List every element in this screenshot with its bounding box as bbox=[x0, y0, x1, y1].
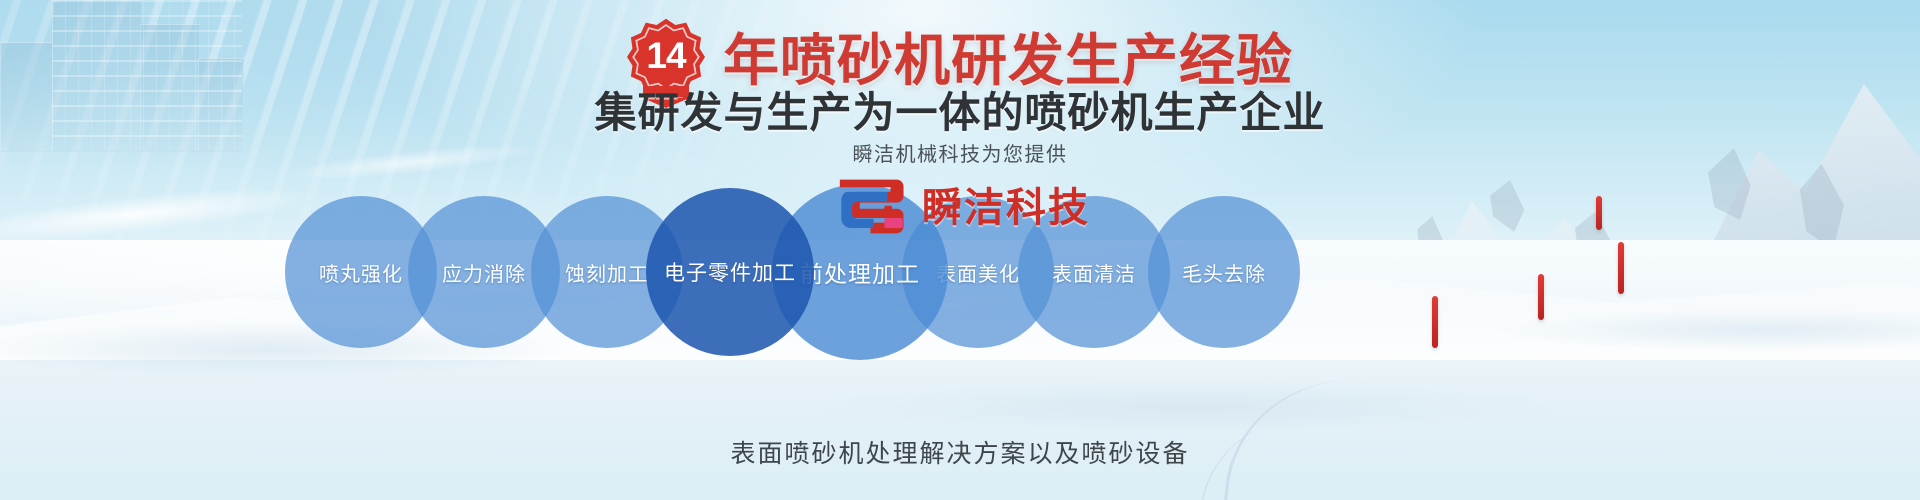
sj-monogram-icon bbox=[830, 175, 908, 241]
service-label: 喷丸强化 bbox=[319, 258, 403, 287]
years-badge-number: 14 bbox=[627, 18, 705, 96]
service-label: 表面美化 bbox=[936, 258, 1020, 287]
service-label: 前处理加工 bbox=[800, 255, 920, 289]
service-label: 蚀刻加工 bbox=[565, 258, 649, 287]
promo-banner: 14 年喷砂机研发生产经验 集研发与生产为一体的喷砂机生产企业 瞬洁机械科技为您… bbox=[0, 0, 1920, 500]
service-label: 应力消除 bbox=[442, 258, 526, 287]
service-circle[interactable]: 毛头去除 bbox=[1148, 196, 1300, 348]
headline-text: 年喷砂机研发生产经验 bbox=[723, 33, 1293, 89]
service-circle[interactable]: 电子零件加工 bbox=[646, 188, 814, 356]
service-label: 表面清洁 bbox=[1052, 258, 1136, 287]
company-logo[interactable]: 瞬洁科技 bbox=[830, 175, 1090, 241]
company-logo-text: 瞬洁科技 bbox=[922, 188, 1090, 228]
tagline-bottom-text: 表面喷砂机处理解决方案以及喷砂设备 bbox=[0, 442, 1920, 467]
tagline-top-text: 瞬洁机械科技为您提供 bbox=[0, 145, 1920, 165]
service-label: 毛头去除 bbox=[1182, 258, 1266, 287]
subheadline-text: 集研发与生产为一体的喷砂机生产企业 bbox=[0, 92, 1920, 134]
banner-content: 14 年喷砂机研发生产经验 集研发与生产为一体的喷砂机生产企业 瞬洁机械科技为您… bbox=[0, 0, 1920, 500]
service-label: 电子零件加工 bbox=[664, 257, 796, 287]
